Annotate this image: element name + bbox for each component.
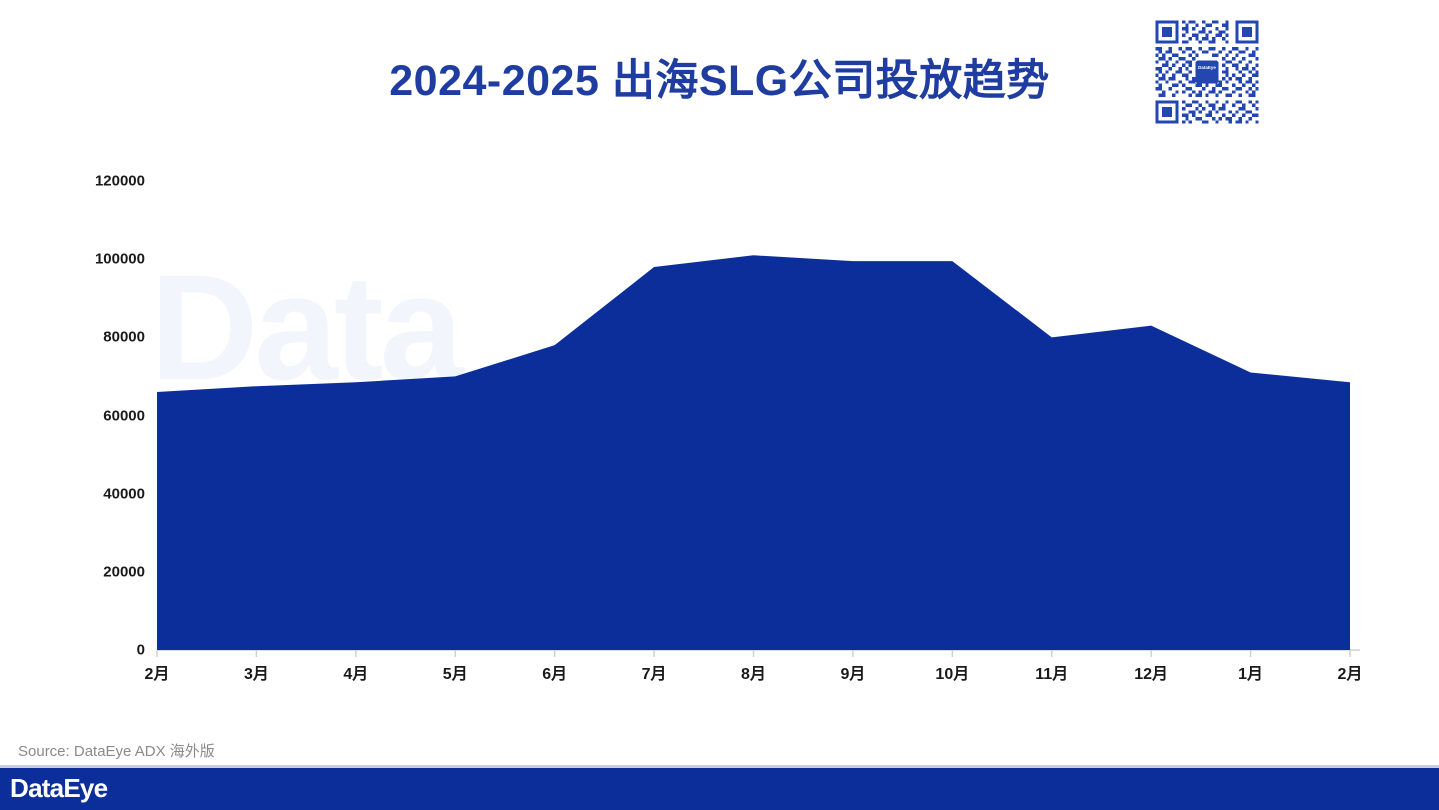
y-axis-tick-label: 100000 [95, 251, 145, 268]
x-axis-tick-label: 1月 [1238, 660, 1263, 684]
x-axis-tick-label: 2月 [1338, 660, 1363, 684]
x-axis-tick-label: 12月 [1134, 660, 1168, 684]
x-axis-tick-label: 6月 [542, 660, 567, 684]
x-axis-ticks [157, 650, 1350, 657]
x-axis-tick-label: 3月 [244, 660, 269, 684]
y-axis-tick-label: 20000 [103, 563, 145, 580]
area-series-fill [157, 255, 1350, 650]
x-axis-tick-label: 4月 [343, 660, 368, 684]
x-axis-tick-label: 8月 [741, 660, 766, 684]
area-chart [0, 0, 1439, 700]
dataeye-logo: DataEye [10, 774, 168, 804]
y-axis-tick-label: 120000 [95, 173, 145, 190]
x-axis-tick-label: 10月 [935, 660, 969, 684]
x-axis-tick-label: 7月 [642, 660, 667, 684]
x-axis-tick-label: 2月 [145, 660, 170, 684]
y-axis-tick-label: 40000 [103, 485, 145, 502]
y-axis-labels: 020000400006000080000100000120000 [0, 0, 145, 700]
x-axis-tick-label: 11月 [1035, 660, 1068, 684]
chart-container: Data 020000400006000080000100000120000 2… [0, 0, 1439, 700]
svg-text:DataEye: DataEye [10, 774, 108, 803]
footer-bar [0, 768, 1439, 810]
y-axis-tick-label: 60000 [103, 407, 145, 424]
x-axis-tick-label: 9月 [840, 660, 865, 684]
y-axis-tick-label: 80000 [103, 329, 145, 346]
x-axis-tick-label: 5月 [443, 660, 468, 684]
source-text: Source: DataEye ADX 海外版 [18, 740, 215, 761]
y-axis-tick-label: 0 [137, 642, 145, 659]
